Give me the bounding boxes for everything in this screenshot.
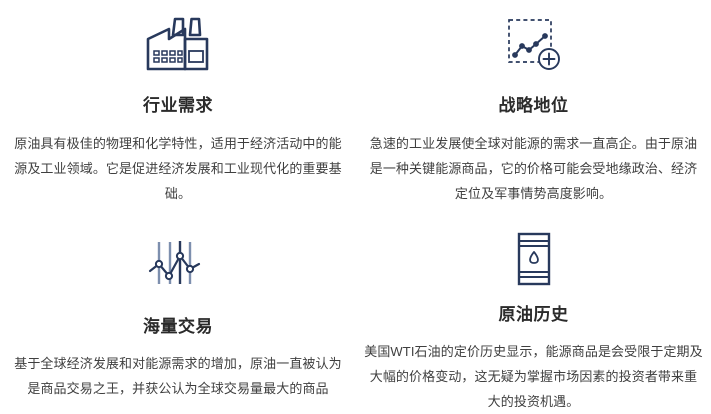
feature-title: 行业需求 xyxy=(143,97,213,114)
feature-description: 急速的工业发展使全球对能源的需求一直高企。由于原油是一种关键能源商品，它的价格可… xyxy=(364,131,704,206)
factory-icon xyxy=(145,8,211,80)
feature-card-massive-trading: 海量交易 基于全球经济发展和对能源需求的增加，原油一直被认为是商品交易之王，并获… xyxy=(0,207,356,414)
feature-description: 基于全球经济发展和对能源需求的增加，原油一直被认为是商品交易之王，并获公认为全球… xyxy=(8,351,348,401)
feature-card-oil-history: 原油历史 美国WTI石油的定价历史显示，能源商品是会受限于定期及大幅的价格变动，… xyxy=(356,207,711,414)
feature-description: 美国WTI石油的定价历史显示，能源商品是会受限于定期及大幅的价格变动，这无疑为掌… xyxy=(364,339,704,414)
feature-description: 原油具有极佳的物理和化学特性，适用于经济活动中的能源及工业领域。它是促进经济发展… xyxy=(8,131,348,206)
feature-card-strategic-position: 战略地位 急速的工业发展使全球对能源的需求一直高企。由于原油是一种关键能源商品，… xyxy=(356,0,711,207)
feature-title: 战略地位 xyxy=(499,97,569,114)
feature-title: 海量交易 xyxy=(143,318,213,335)
feature-title: 原油历史 xyxy=(499,306,569,323)
feature-card-industry-demand: 行业需求 原油具有极佳的物理和化学特性，适用于经济活动中的能源及工业领域。它是促… xyxy=(0,0,356,207)
line-chart-add-icon xyxy=(503,8,565,80)
feature-grid: 行业需求 原油具有极佳的物理和化学特性，适用于经济活动中的能源及工业领域。它是促… xyxy=(0,0,711,414)
trading-volume-icon xyxy=(147,229,209,301)
oil-barrel-icon xyxy=(512,229,556,289)
